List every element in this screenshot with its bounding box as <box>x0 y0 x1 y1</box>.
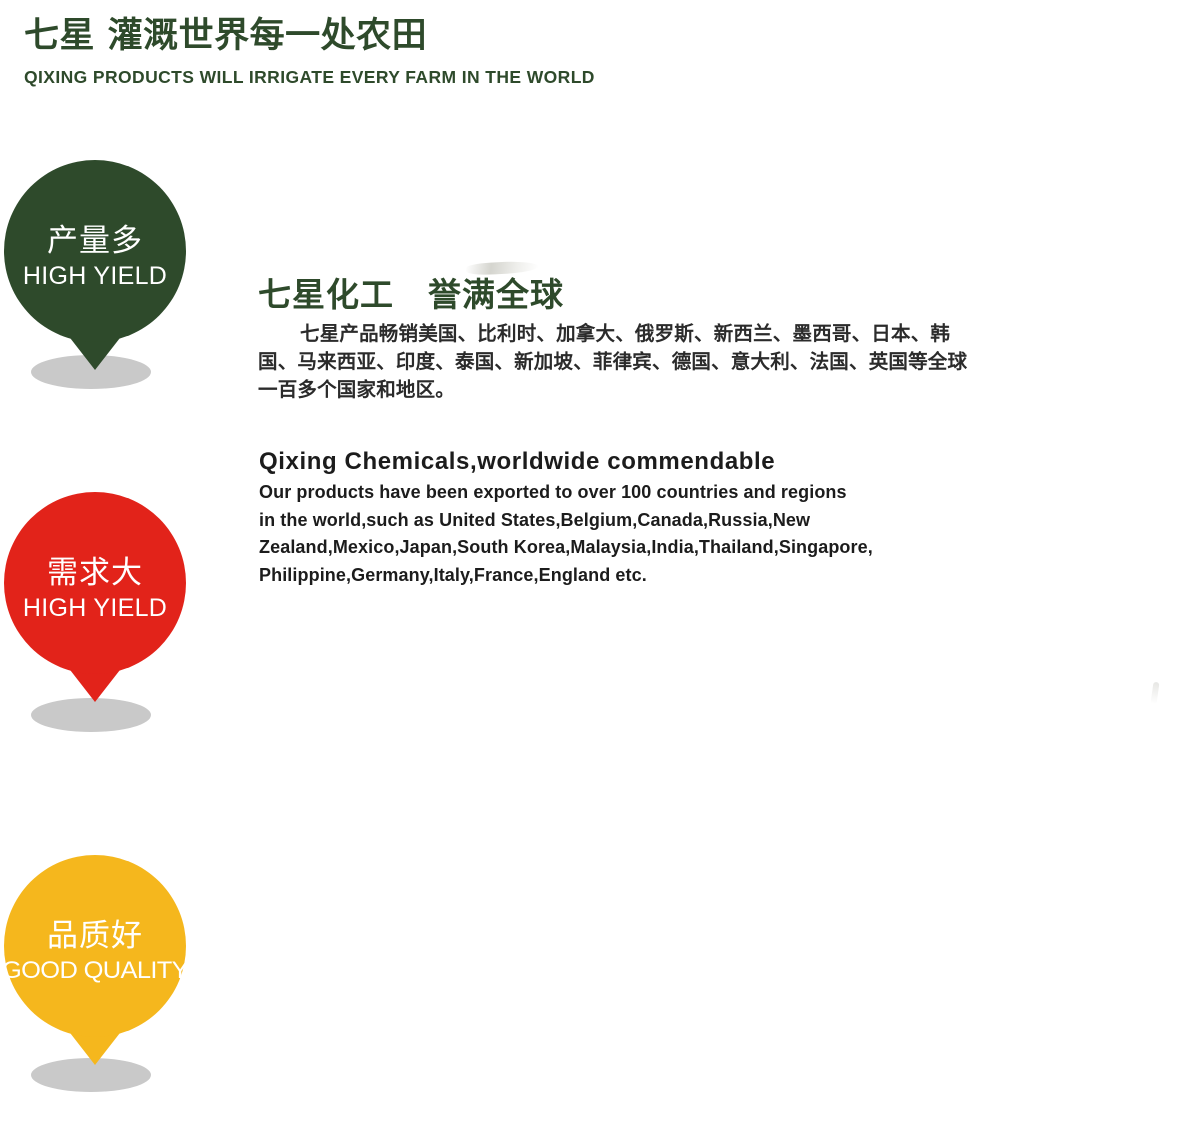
scan-artifact-right <box>1150 682 1159 705</box>
paragraph-line: Our products have been exported to over … <box>259 479 1019 507</box>
pin-head-icon <box>4 855 186 1037</box>
section-heading-en: Qixing Chemicals,worldwide commendable <box>259 446 775 478</box>
scan-artifact-top <box>466 260 539 276</box>
pin-head-icon <box>4 160 186 342</box>
section-paragraph-cn: 七星产品畅销美国、比利时、加拿大、俄罗斯、新西兰、墨西哥、日本、韩国、马来西亚、… <box>258 320 970 404</box>
pin-shape-icon <box>4 160 186 342</box>
paragraph-line: in the world,such as United States,Belgi… <box>259 507 1019 535</box>
pin-shape-icon <box>4 492 186 674</box>
page-header: 七星 灌溉世界每一处农田 QIXING PRODUCTS WILL IRRIGA… <box>24 14 1024 89</box>
pin-shadow-high-demand <box>31 698 151 732</box>
page-subtitle-en: QIXING PRODUCTS WILL IRRIGATE EVERY FARM… <box>24 65 1024 89</box>
section-paragraph-en: Our products have been exported to over … <box>259 479 1019 589</box>
paragraph-line: Zealand,Mexico,Japan,South Korea,Malaysi… <box>259 534 1019 562</box>
pin-head-icon <box>4 492 186 674</box>
pin-shape-icon <box>4 855 186 1037</box>
section-heading-cn: 七星化工 誉满全球 <box>258 275 564 315</box>
page-title-cn: 七星 灌溉世界每一处农田 <box>24 14 1024 58</box>
paragraph-line: Philippine,Germany,Italy,France,England … <box>259 562 1019 590</box>
